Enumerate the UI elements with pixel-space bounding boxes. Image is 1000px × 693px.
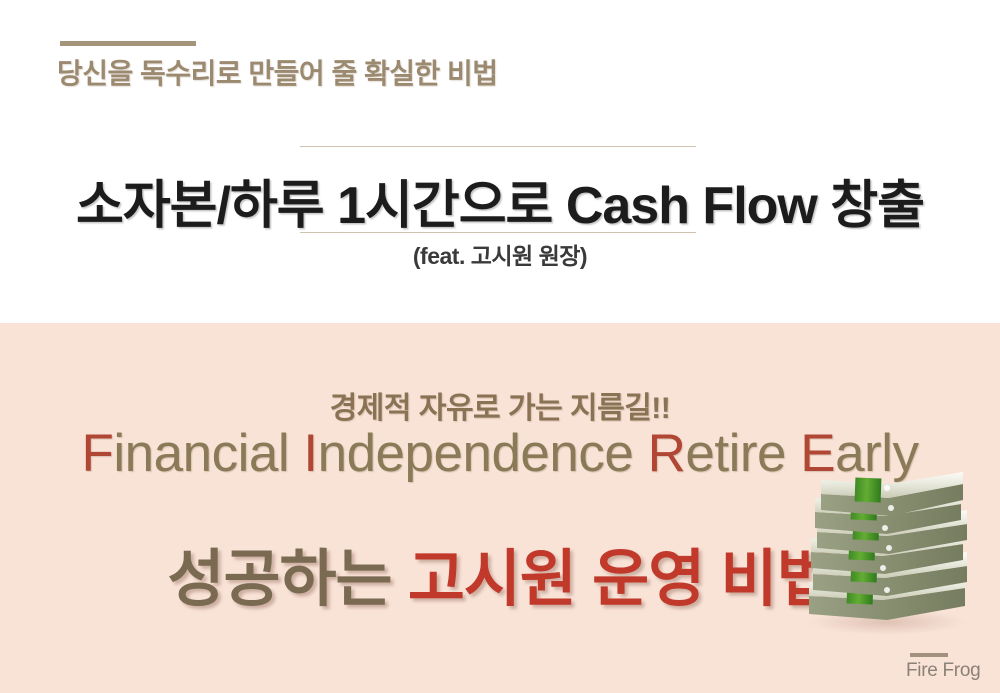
kicker-text: 당신을 독수리로 만들어 줄 확실한 비법	[57, 52, 498, 92]
subheading-text: 경제적 자유로 가는 지름길!!	[0, 383, 1000, 427]
headline-part-one: 성공하는	[167, 545, 407, 614]
page-subtitle: (feat. 고시원 원장)	[0, 237, 1000, 271]
fire-letter-f: F	[82, 424, 114, 483]
title-rule-top	[300, 146, 696, 147]
page-title: 소자본/하루 1시간으로 Cash Flow 창출	[0, 163, 1000, 238]
headline-part-two: 고시원 운영 비법	[408, 545, 833, 614]
fire-letter-i: I	[303, 424, 317, 483]
brand-name: Fire Frog	[906, 660, 980, 682]
fire-word-inancial: inancial	[113, 424, 303, 483]
fire-word-etire: etire	[685, 424, 800, 483]
fire-letter-r: R	[648, 424, 686, 483]
kicker-accent-bar	[60, 41, 196, 46]
poster-root: 당신을 독수리로 만들어 줄 확실한 비법 소자본/하루 1시간으로 Cash …	[0, 0, 1000, 693]
cash-stack-illustration	[795, 470, 980, 645]
title-rule-bottom	[300, 232, 696, 233]
fire-word-ndependence: ndependence	[318, 424, 648, 483]
brand-accent-bar	[910, 653, 948, 657]
top-section: 당신을 독수리로 만들어 줄 확실한 비법 소자본/하루 1시간으로 Cash …	[0, 0, 1000, 323]
